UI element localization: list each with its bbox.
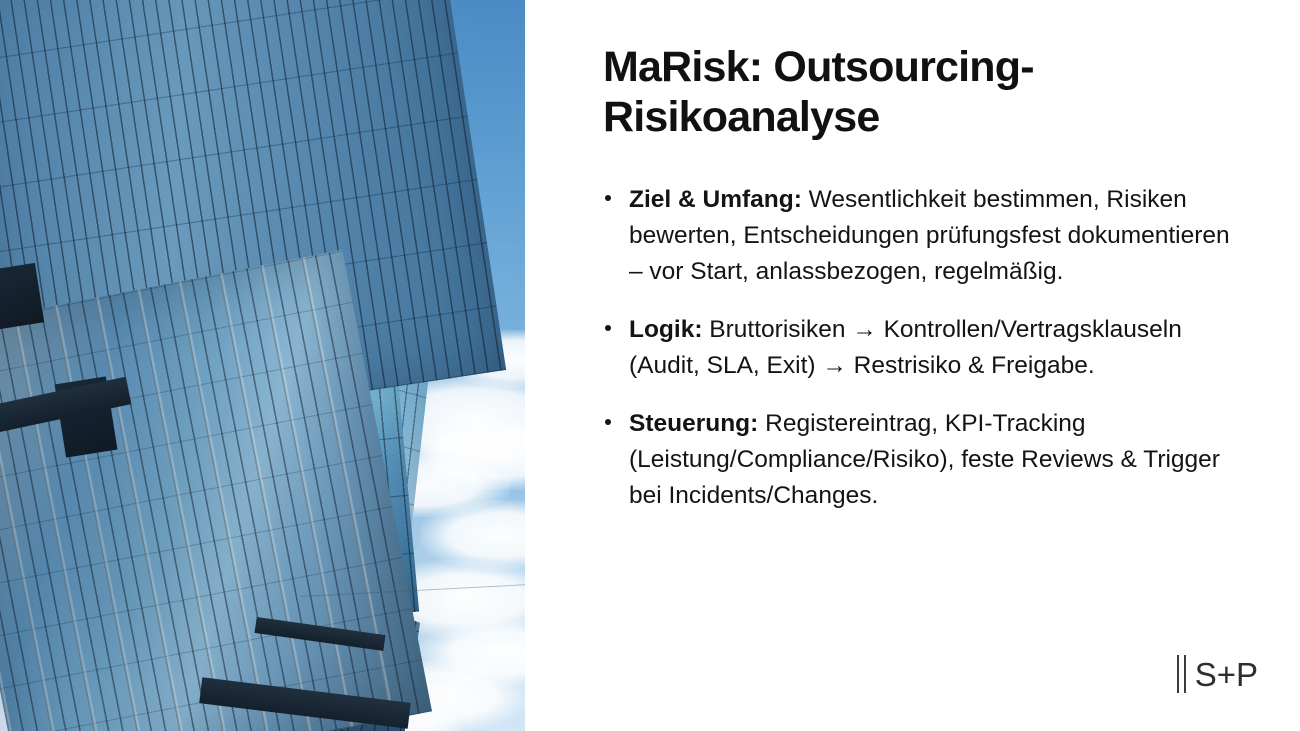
bullet-list: Ziel & Umfang: Wesentlichkeit bestimmen,… — [603, 182, 1248, 514]
content-column: MaRisk: Outsourcing-Risikoanalyse Ziel &… — [525, 0, 1300, 731]
double-bar-mark-icon — [1177, 655, 1186, 693]
bullet-lead-label: Steuerung: — [629, 410, 758, 437]
bullet-dot-icon — [605, 419, 611, 425]
bullet-body-text: Bruttorisiken → Kontrollen/Vertragsklaus… — [629, 316, 1182, 379]
slide: MaRisk: Outsourcing-Risikoanalyse Ziel &… — [0, 0, 1300, 731]
brand-logo: S+P — [1177, 655, 1258, 693]
brand-logo-text: S+P — [1195, 658, 1258, 691]
bullet-item-logik: Logik: Bruttorisiken → Kontrollen/Vertra… — [603, 312, 1248, 384]
bullet-dot-icon — [605, 325, 611, 331]
bullet-lead-label: Ziel & Umfang: — [629, 186, 802, 213]
bullet-item-steuerung: Steuerung: Registereintrag, KPI-Tracking… — [603, 406, 1248, 514]
hero-image — [0, 0, 525, 731]
bullet-item-ziel-umfang: Ziel & Umfang: Wesentlichkeit bestimmen,… — [603, 182, 1248, 290]
page-title: MaRisk: Outsourcing-Risikoanalyse — [603, 42, 1163, 143]
bullet-dot-icon — [605, 195, 611, 201]
bullet-lead-label: Logik: — [629, 316, 703, 343]
